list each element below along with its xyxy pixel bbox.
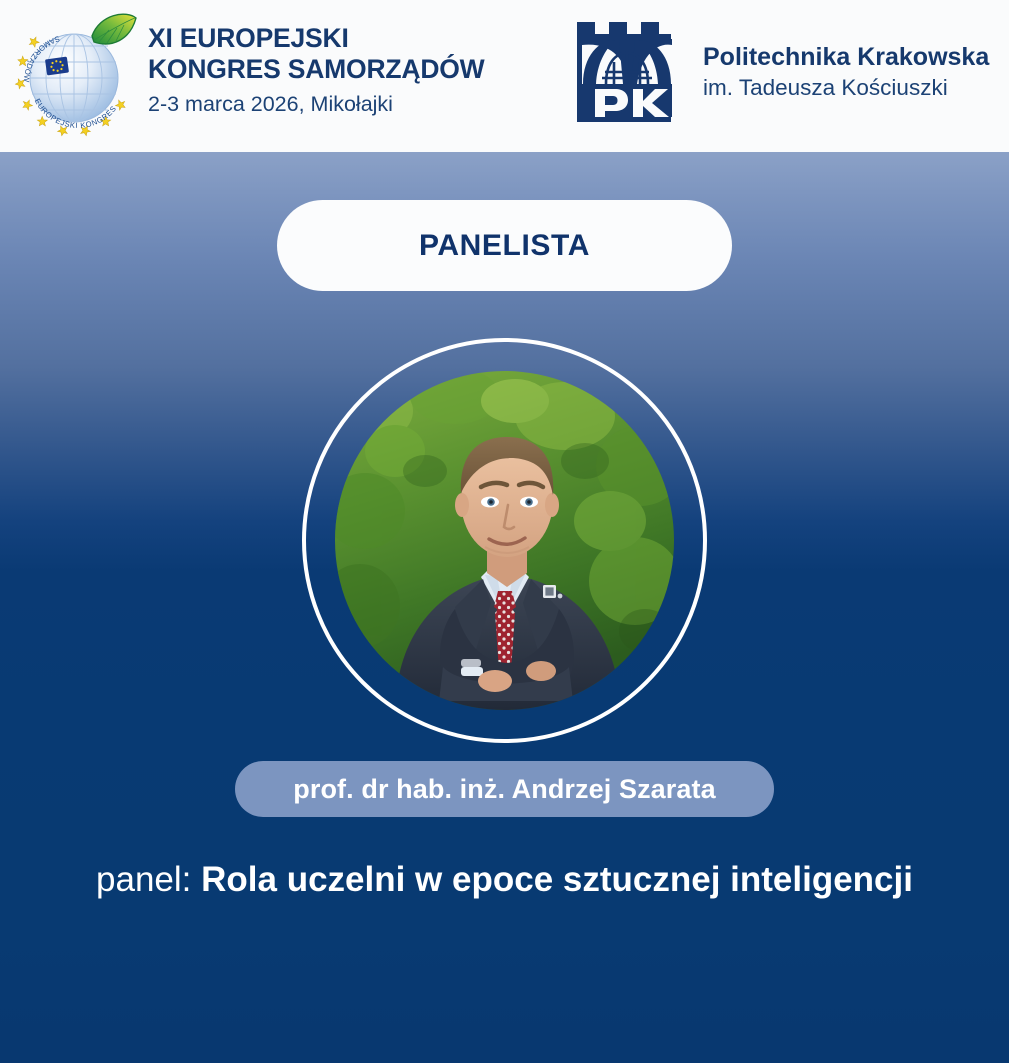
- university-logo-block: Politechnika Krakowska im. Tadeusza Kośc…: [575, 20, 989, 124]
- congress-title-block: XI EUROPEJSKI KONGRES SAMORZĄDÓW 2-3 mar…: [148, 23, 484, 119]
- congress-title-line-2: KONGRES SAMORZĄDÓW: [148, 54, 484, 85]
- eks-globe-logo: EUROPEJSKI KONGRES SAMORZĄDÓW: [8, 6, 140, 144]
- university-name: Politechnika Krakowska: [703, 42, 989, 73]
- speaker-name-pill: prof. dr hab. inż. Andrzej Szarata: [235, 761, 774, 817]
- speaker-portrait: [302, 338, 707, 743]
- panel-topic: Rola uczelni w epoce sztucznej inteligen…: [201, 860, 913, 899]
- university-patron: im. Tadeusza Kościuszki: [703, 73, 989, 103]
- poster-body: PANELISTA: [0, 152, 1009, 1063]
- role-badge: PANELISTA: [277, 200, 732, 291]
- speaker-announcement-poster: EUROPEJSKI KONGRES SAMORZĄDÓW XI EUROPEJ…: [0, 0, 1009, 1063]
- congress-date-location: 2-3 marca 2026, Mikołajki: [148, 89, 484, 119]
- university-name-block: Politechnika Krakowska im. Tadeusza Kośc…: [703, 42, 989, 103]
- role-badge-label: PANELISTA: [419, 229, 590, 263]
- panel-prefix: panel:: [96, 860, 201, 899]
- poster-header: EUROPEJSKI KONGRES SAMORZĄDÓW XI EUROPEJ…: [0, 0, 1009, 152]
- panel-title-line: panel: Rola uczelni w epoce sztucznej in…: [0, 857, 1009, 903]
- portrait-photo: [335, 371, 674, 710]
- congress-title-line-1: XI EUROPEJSKI: [148, 23, 484, 54]
- speaker-name: prof. dr hab. inż. Andrzej Szarata: [293, 774, 715, 805]
- pk-crest-logo: [575, 20, 679, 124]
